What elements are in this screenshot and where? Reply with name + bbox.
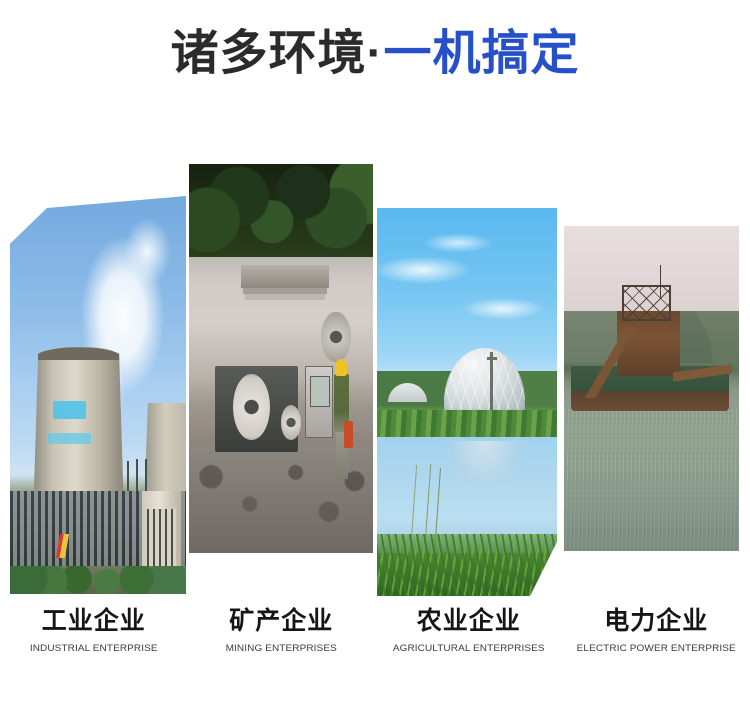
control-cabinet-icon bbox=[305, 366, 333, 438]
saw-blade-secondary-icon bbox=[321, 312, 350, 363]
image-panel-group bbox=[0, 0, 750, 610]
panel-image-agricultural bbox=[377, 208, 557, 596]
dredger-boom-secondary-icon bbox=[673, 356, 733, 389]
panel-image-electric-power bbox=[564, 226, 739, 551]
caption-electric-power-en: ELECTRIC POWER ENTERPRISE bbox=[563, 643, 750, 655]
saw-pulley-icon bbox=[281, 405, 301, 440]
caption-agricultural-cn: 农业企业 bbox=[375, 605, 563, 637]
hose-icon bbox=[344, 421, 353, 448]
antenna-mast-icon bbox=[660, 265, 661, 298]
caption-mining-en: MINING ENTERPRISES bbox=[188, 643, 376, 655]
caption-mining-cn: 矿产企业 bbox=[188, 605, 376, 637]
caption-electric-power: 电力企业 ELECTRIC POWER ENTERPRISE bbox=[563, 605, 750, 675]
panel-image-industrial bbox=[10, 196, 186, 594]
river-water bbox=[564, 408, 739, 551]
caption-industrial-cn: 工业企业 bbox=[0, 605, 188, 637]
caption-agricultural-en: AGRICULTURAL ENTERPRISES bbox=[375, 643, 563, 655]
tree-line bbox=[10, 566, 186, 594]
geodesic-greenhouse-icon bbox=[444, 348, 525, 414]
tower-logo-mark bbox=[53, 401, 86, 419]
hillside-trees bbox=[189, 164, 373, 257]
panel-image-mining bbox=[189, 164, 373, 553]
caption-row: 工业企业 INDUSTRIAL ENTERPRISE 矿产企业 MINING E… bbox=[0, 605, 750, 675]
utility-pole-icon bbox=[490, 352, 493, 418]
steel-frame-icon bbox=[622, 285, 672, 322]
caption-industrial: 工业企业 INDUSTRIAL ENTERPRISE bbox=[0, 605, 188, 675]
foreground-grass bbox=[377, 534, 557, 596]
saw-blade-icon bbox=[233, 374, 270, 440]
safety-helmet-icon bbox=[335, 359, 347, 377]
crop-field bbox=[377, 410, 557, 437]
caption-mining: 矿产企业 MINING ENTERPRISES bbox=[188, 605, 376, 675]
caption-industrial-en: INDUSTRIAL ENTERPRISE bbox=[0, 643, 188, 655]
dredger-boom-icon bbox=[578, 327, 641, 399]
caption-agricultural: 农业企业 AGRICULTURAL ENTERPRISES bbox=[375, 605, 563, 675]
caption-electric-power-cn: 电力企业 bbox=[563, 605, 750, 637]
tower-logo-text bbox=[48, 433, 92, 444]
stone-ledge bbox=[241, 265, 329, 288]
